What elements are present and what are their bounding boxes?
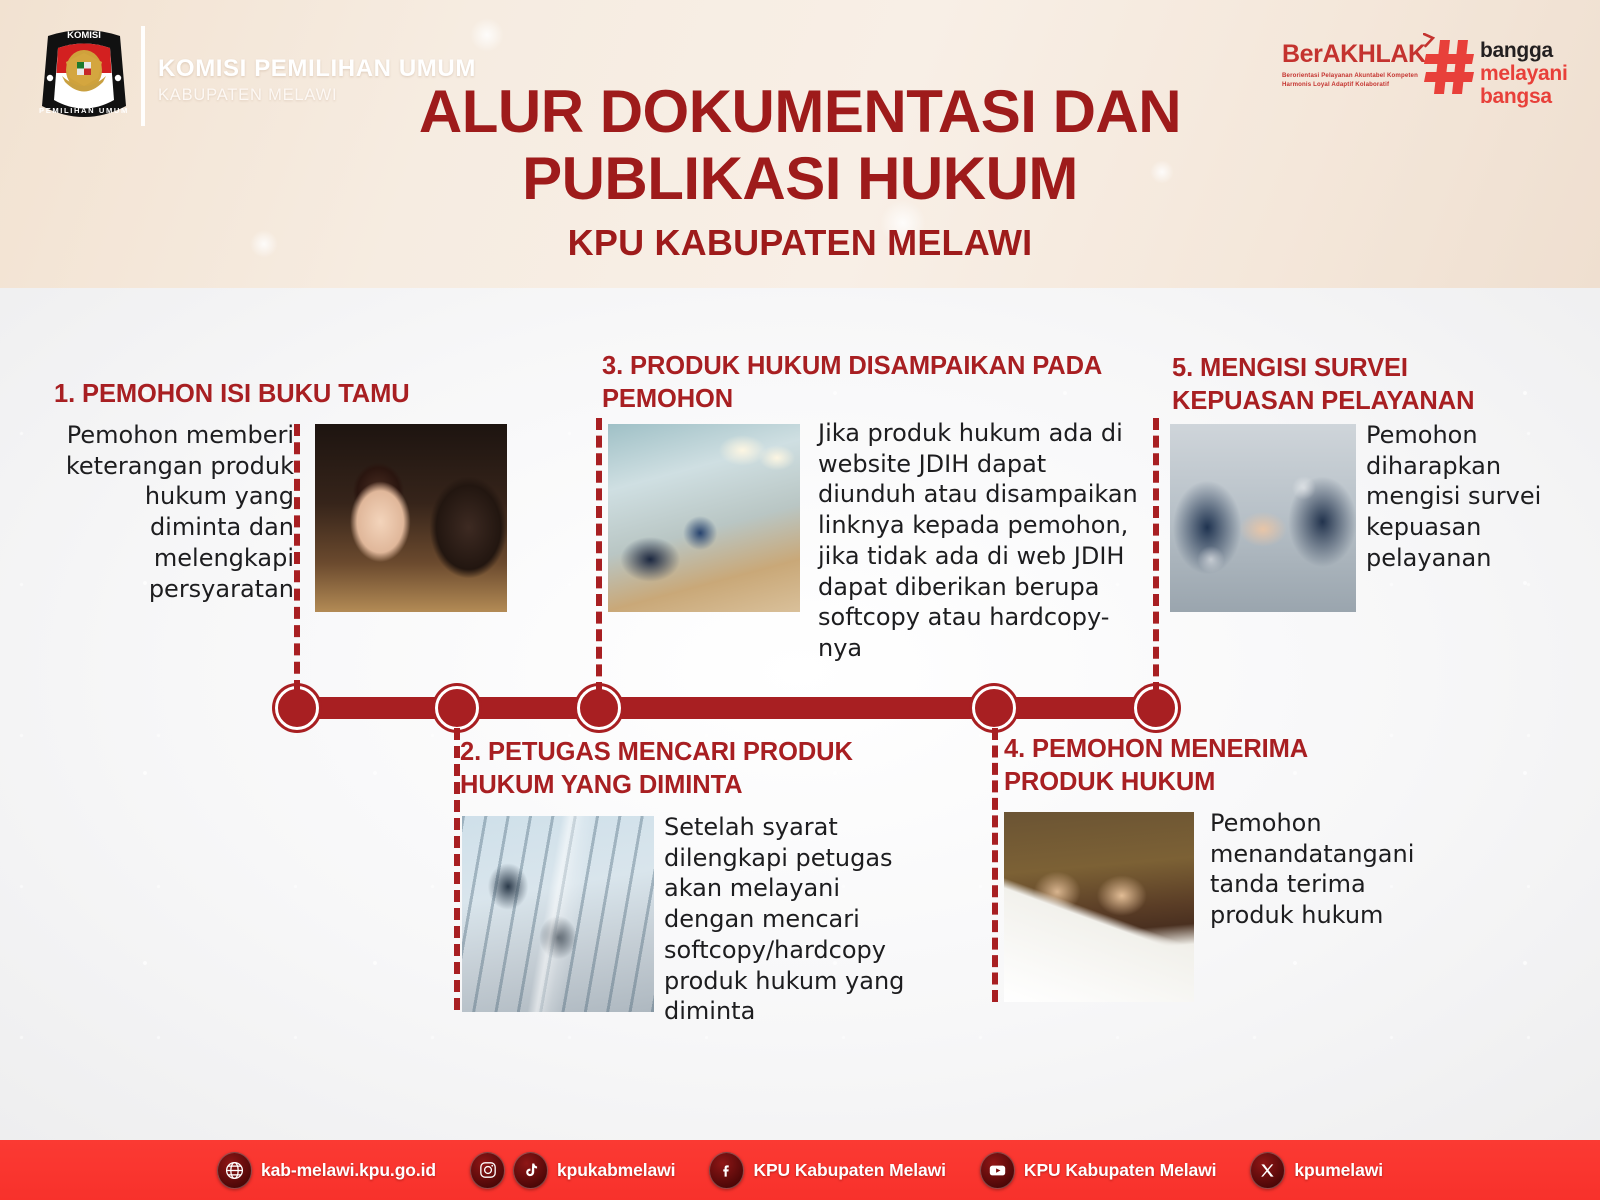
connector-line-4 [992,728,998,1002]
step-5-body: Pemohon diharapkan mengisi survei kepuas… [1366,420,1556,574]
footer-label-facebook: KPU Kabupaten Melawi [753,1160,945,1181]
timeline-bar [288,697,1168,719]
connector-line-3 [596,418,602,694]
bangga-melayani-bangsa-logo: bangga melayani bangsa [1424,30,1574,106]
bangga-line-1: bangga [1480,40,1553,61]
footer-item-x[interactable]: kpumelawi [1250,1152,1383,1189]
title-line-3: KPU KABUPATEN MELAWI [300,222,1300,264]
timeline-node-1[interactable] [275,686,319,730]
social-footer-bar: kab-melawi.kpu.go.id kpukabmelawi [0,1140,1600,1200]
footer-item-instagram[interactable] [470,1152,505,1189]
step-3-body: Jika produk hukum ada di website JDIH da… [818,418,1148,664]
step-4-photo [1004,812,1194,1002]
step-2-body: Setelah syarat dilengkapi petugas akan m… [664,812,916,1027]
bangga-line-3: bangsa [1480,86,1552,107]
footer-item-website[interactable]: kab-melawi.kpu.go.id [217,1152,436,1189]
step-3-photo [608,424,800,612]
timeline-node-4[interactable] [972,686,1016,730]
berakhlak-wordmark: BerAKHLAK [1282,40,1422,69]
connector-line-5 [1153,418,1159,694]
facebook-icon [709,1152,744,1189]
footer-label-website: kab-melawi.kpu.go.id [261,1160,436,1181]
berakhlak-subtitle-line-2: Harmonis Loyal Adaptif Kolaboratif [1282,80,1422,89]
step-5-title: 5. MENGISI SURVEI KEPUASAN PELAYANAN [1172,352,1552,417]
berakhlak-logo: BerAKHLAK Berorientasi Pelayanan Akuntab… [1282,40,1422,89]
x-twitter-icon [1250,1152,1285,1189]
bangga-line-2: melayani [1480,63,1568,84]
kpu-garuda-emblem-icon: KOMISI PEMILIHAN UMUM [36,22,132,130]
title-line-1: ALUR DOKUMENTASI DAN [300,78,1300,145]
connector-line-1 [294,424,300,692]
footer-label-x: kpumelawi [1294,1160,1383,1181]
hashtag-icon [1424,38,1476,96]
footer-item-facebook[interactable]: KPU Kabupaten Melawi [709,1152,945,1189]
svg-text:PEMILIHAN UMUM: PEMILIHAN UMUM [39,106,129,115]
footer-item-youtube[interactable]: KPU Kabupaten Melawi [980,1152,1216,1189]
step-2-photo [462,816,654,1012]
globe-icon [217,1152,252,1189]
infographic-poster: KOMISI PEMILIHAN UMUM KOMISI PEMILIHAN U… [0,0,1600,1200]
step-1-photo [315,424,507,612]
svg-text:KOMISI: KOMISI [67,30,101,41]
step-1-title: 1. PEMOHON ISI BUKU TAMU [54,378,484,411]
step-2-title: 2. PETUGAS MENCARI PRODUK HUKUM YANG DIM… [460,736,930,801]
step-4-body: Pemohon menandatangani tanda terima prod… [1210,808,1450,931]
bokeh-dot [250,230,278,258]
footer-item-tiktok[interactable]: kpukabmelawi [513,1152,675,1189]
youtube-icon [980,1152,1015,1189]
footer-label-tiktok: kpukabmelawi [557,1160,675,1181]
step-1-body: Pemohon memberi keterangan produk hukum … [56,420,294,604]
tiktok-icon [513,1152,548,1189]
step-5-photo [1170,424,1356,612]
timeline-node-2[interactable] [435,686,479,730]
bokeh-dot [470,18,504,52]
step-3-title: 3. PRODUK HUKUM DISAMPAIKAN PADA PEMOHON [602,350,1148,415]
instagram-icon [470,1152,505,1189]
step-4-title: 4. PEMOHON MENERIMA PRODUK HUKUM [1004,733,1404,798]
poster-header: KOMISI PEMILIHAN UMUM KOMISI PEMILIHAN U… [0,0,1600,288]
footer-label-youtube: KPU Kabupaten Melawi [1024,1160,1216,1181]
poster-title: ALUR DOKUMENTASI DAN PUBLIKASI HUKUM KPU… [300,78,1300,264]
berakhlak-subtitle-line-1: Berorientasi Pelayanan Akuntabel Kompete… [1282,71,1422,80]
title-line-2: PUBLIKASI HUKUM [300,145,1300,212]
header-divider [141,26,145,126]
